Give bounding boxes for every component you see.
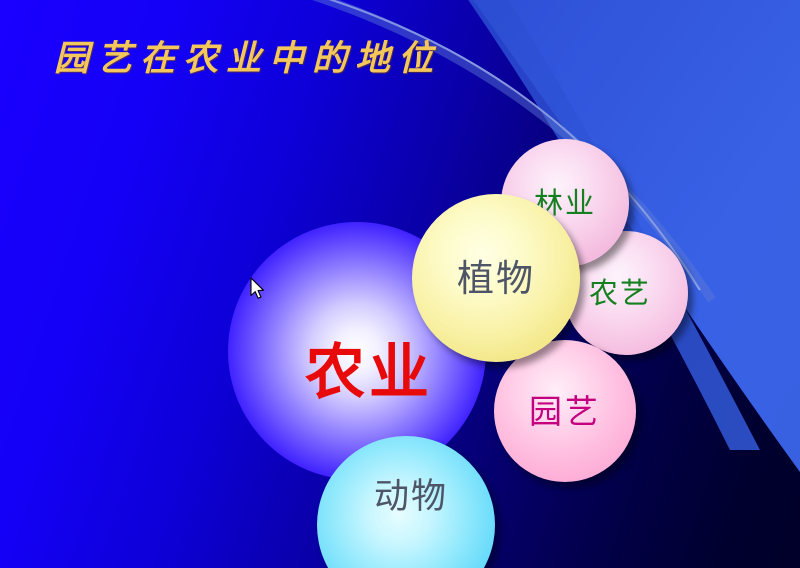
bubble-label-agronomy: 农艺 <box>589 279 651 308</box>
slide-title: 园艺在农业中的地位 <box>54 30 441 81</box>
bubble-label-plant: 植物 <box>457 260 535 297</box>
bubble-label-animal: 动物 <box>374 480 448 515</box>
bubble-plant[interactable]: 植物 <box>412 194 580 362</box>
bubble-label-agriculture: 农业 <box>305 343 433 403</box>
bubble-label-horticulture: 园艺 <box>529 395 601 428</box>
bubble-horticulture[interactable]: 园艺 <box>494 340 636 482</box>
presentation-slide: 园艺在农业中的地位 农业 动物 农艺 林业 园艺 植物 <box>0 0 800 568</box>
